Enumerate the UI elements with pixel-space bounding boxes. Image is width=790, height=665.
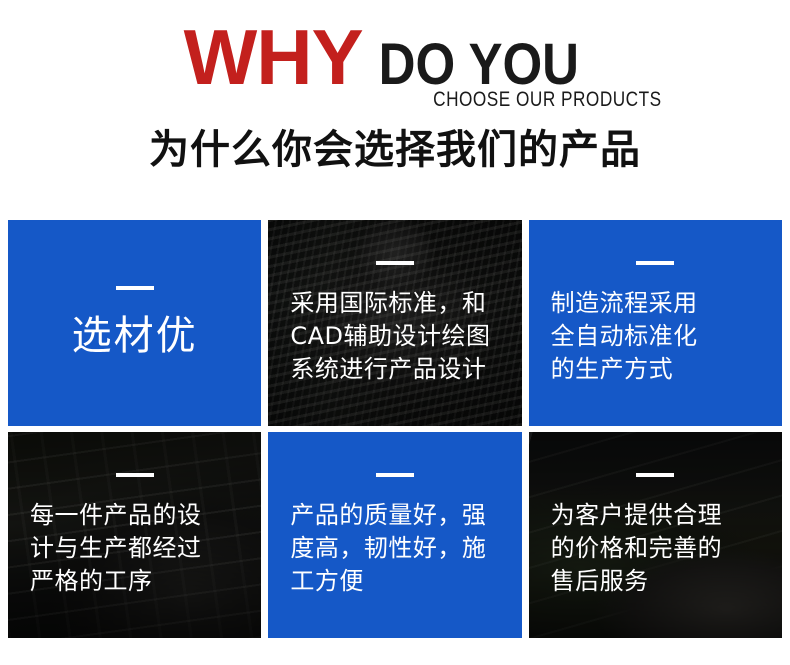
divider-dash — [376, 261, 414, 265]
divider-dash — [636, 261, 674, 265]
feature-card-text: 产品的质量好，强 度高，韧性好，施 工方便 — [290, 499, 499, 598]
feature-card-text: 为客户提供合理 的价格和完善的 售后服务 — [551, 499, 760, 598]
feature-card-material-selection[interactable]: 选材优 — [8, 220, 261, 426]
feature-card-quality-strength[interactable]: 产品的质量好，强 度高，韧性好，施 工方便 — [268, 432, 521, 638]
divider-dash — [636, 473, 674, 477]
headline-subline: CHOOSE OUR PRODUCTS — [434, 88, 662, 112]
feature-card-international-standards-cad[interactable]: 采用国际标准，和 CAD辅助设计绘图 系统进行产品设计 — [268, 220, 521, 426]
page-title-chinese: 为什么你会选择我们的产品 — [0, 126, 790, 174]
feature-card-text: 选材优 — [30, 312, 239, 360]
feature-card-text: 采用国际标准，和 CAD辅助设计绘图 系统进行产品设计 — [290, 287, 499, 386]
headline-why: WHY — [184, 18, 363, 96]
headline-block: WHY DO YOU — [0, 18, 790, 98]
divider-dash — [376, 473, 414, 477]
divider-dash — [116, 286, 154, 290]
feature-card-text: 每一件产品的设 计与生产都经过 严格的工序 — [30, 499, 239, 598]
page-header: WHY DO YOU CHOOSE OUR PRODUCTS 为什么你会选择我们… — [0, 0, 790, 212]
feature-card-strict-process[interactable]: 每一件产品的设 计与生产都经过 严格的工序 — [8, 432, 261, 638]
promo-page: WHY DO YOU CHOOSE OUR PRODUCTS 为什么你会选择我们… — [0, 0, 790, 665]
feature-card-automated-production[interactable]: 制造流程采用 全自动标准化 的生产方式 — [529, 220, 782, 426]
divider-dash — [116, 473, 154, 477]
headline-do-you: DO YOU — [379, 34, 579, 96]
feature-card-price-after-sales[interactable]: 为客户提供合理 的价格和完善的 售后服务 — [529, 432, 782, 638]
feature-card-text: 制造流程采用 全自动标准化 的生产方式 — [551, 287, 760, 386]
feature-grid: 选材优 采用国际标准，和 CAD辅助设计绘图 系统进行产品设计 制造流程采用 全… — [8, 220, 782, 638]
